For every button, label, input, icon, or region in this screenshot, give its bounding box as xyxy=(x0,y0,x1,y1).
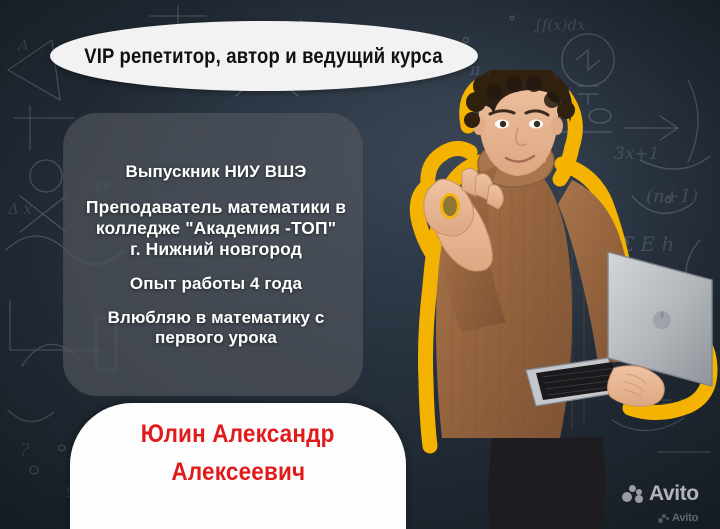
avito-wordmark: Avito xyxy=(649,482,699,506)
headline-badge: VIP репетитор, автор и ведущий курса xyxy=(50,21,478,91)
info-line-teacher-c: г. Нижний новгород xyxy=(86,239,346,260)
info-line-passion: Влюбляю в математику с первого урока xyxy=(108,308,325,349)
avito-watermark-small: Avito xyxy=(658,512,698,524)
avito-dots-icon-small xyxy=(658,514,669,523)
pants xyxy=(488,437,605,529)
tutor-photo xyxy=(376,70,720,529)
name-plate: Юлин Александр Алексеевич xyxy=(70,403,406,529)
info-line-passion-a: Влюбляю в математику с xyxy=(108,308,325,328)
name-line-2: Алексеевич xyxy=(171,458,305,487)
info-line-passion-b: первого урока xyxy=(108,328,325,348)
avito-watermark: Avito xyxy=(622,482,699,506)
ad-poster: ∫f(x)dx 3x+1 (n+1) Σ E h C H₂ a²+b²=c² λ… xyxy=(0,0,720,529)
info-text-block: Выпускник НИУ ВШЭ Преподаватель математи… xyxy=(55,118,377,393)
avito-dots-icon xyxy=(622,485,644,503)
name-line-1: Юлин Александр xyxy=(141,420,335,449)
headline-text: VIP репетитор, автор и ведущий курса xyxy=(85,44,444,69)
info-line-experience: Опыт работы 4 года xyxy=(130,274,302,294)
info-line-teacher-a: Преподаватель математики в xyxy=(86,197,346,218)
info-line-teacher-b: колледже "Академия -ТОП" xyxy=(86,218,346,239)
info-line-teacher: Преподаватель математики в колледже "Ака… xyxy=(86,197,346,260)
right-hand xyxy=(607,366,664,407)
info-line-graduate: Выпускник НИУ ВШЭ xyxy=(126,162,307,182)
avito-wordmark-small: Avito xyxy=(672,512,698,524)
